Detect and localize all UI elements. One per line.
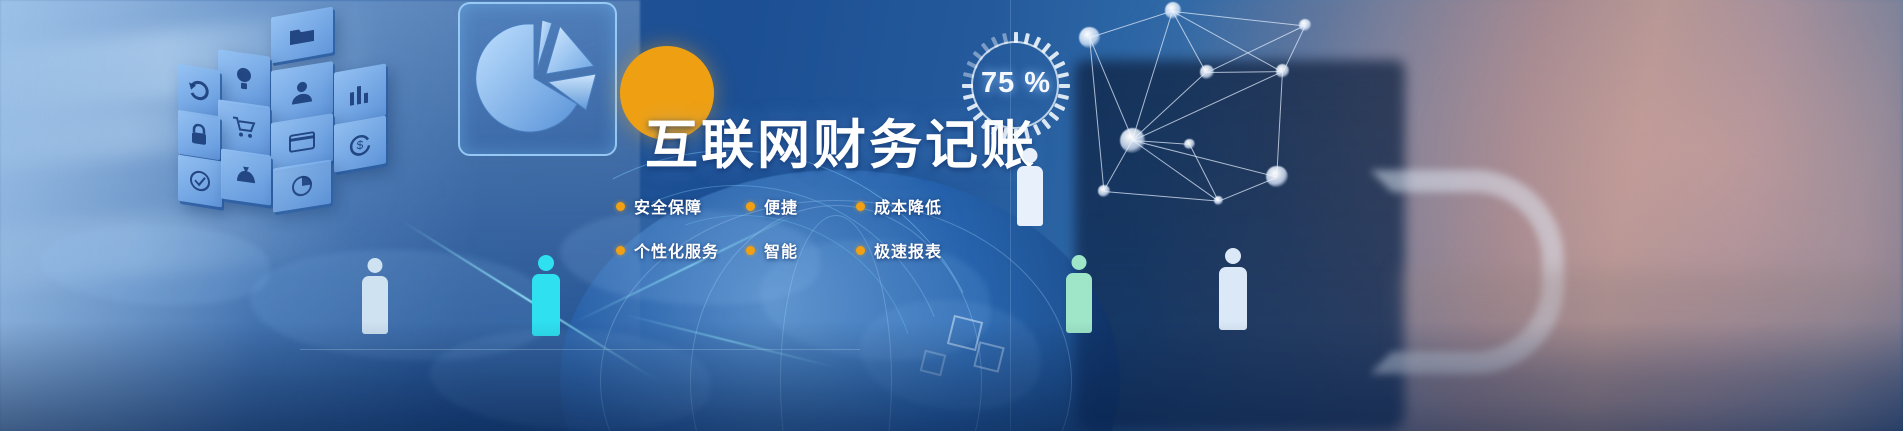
pie-chart bbox=[460, 4, 611, 150]
gauge-tick bbox=[1014, 32, 1018, 43]
network-node bbox=[1276, 64, 1289, 77]
network-node bbox=[1184, 139, 1195, 150]
network-edge bbox=[1207, 25, 1305, 73]
feature-item: 便捷 bbox=[746, 194, 856, 218]
credit-card-icon bbox=[289, 131, 315, 153]
dollar-refresh-icon: $ bbox=[348, 130, 372, 158]
clock-icon bbox=[189, 168, 211, 193]
bullet-dot-icon bbox=[856, 202, 865, 211]
bullet-dot-icon bbox=[616, 202, 625, 211]
network-node bbox=[1079, 27, 1100, 48]
feature-item: 极速报表 bbox=[856, 238, 942, 262]
network-edge bbox=[1089, 37, 1133, 140]
feature-item: 成本降低 bbox=[856, 194, 942, 218]
pie-slice-icon bbox=[291, 173, 313, 198]
feature-item: 智能 bbox=[746, 238, 856, 262]
feature-label: 成本降低 bbox=[874, 194, 942, 218]
feature-item: 个性化服务 bbox=[616, 238, 746, 262]
network-edge bbox=[1132, 140, 1218, 201]
icon-cube-dollar-refresh: $ bbox=[334, 115, 386, 172]
icon-cube-money-bag bbox=[221, 148, 271, 205]
user-icon bbox=[290, 78, 314, 106]
network-edge bbox=[1189, 144, 1219, 201]
network-node bbox=[1165, 2, 1181, 18]
icon-cube-pie-slice bbox=[273, 159, 331, 212]
network-node bbox=[1098, 185, 1110, 197]
gauge-tick bbox=[962, 84, 973, 88]
feature-item: 安全保障 bbox=[616, 194, 746, 218]
feature-label: 个性化服务 bbox=[634, 238, 719, 262]
network-edge bbox=[1090, 11, 1174, 39]
network-node bbox=[1214, 196, 1223, 205]
network-node bbox=[1299, 19, 1311, 31]
person-silhouette bbox=[1013, 148, 1047, 228]
feature-label: 安全保障 bbox=[634, 194, 702, 218]
folder-icon bbox=[289, 23, 315, 48]
money-bag-icon bbox=[235, 163, 257, 190]
network-node bbox=[1266, 166, 1287, 187]
network-edge bbox=[1276, 71, 1283, 177]
network-edge bbox=[1207, 71, 1283, 73]
recycle-icon bbox=[188, 77, 210, 102]
feature-row: 个性化服务 智能 极速报表 bbox=[616, 228, 986, 272]
bullet-dot-icon bbox=[616, 246, 625, 255]
lightbulb-icon bbox=[234, 65, 254, 94]
icon-cube-shopping-cart bbox=[218, 99, 270, 156]
bullet-dot-icon bbox=[746, 202, 755, 211]
network-edge bbox=[1089, 37, 1104, 191]
person-silhouette bbox=[1215, 248, 1251, 332]
feature-label: 智能 bbox=[764, 238, 798, 262]
bottom-vignette bbox=[0, 321, 1903, 431]
feature-label: 便捷 bbox=[764, 194, 798, 218]
bar-chart-icon bbox=[348, 81, 372, 107]
network-graph bbox=[1060, 0, 1580, 210]
network-edge bbox=[1133, 71, 1283, 141]
icon-cube-lock bbox=[178, 110, 220, 161]
feature-list: 安全保障 便捷 成本降低 个性化服务 智能 极速报表 bbox=[616, 184, 986, 272]
feature-row: 安全保障 便捷 成本降低 bbox=[616, 184, 986, 228]
marketing-banner: $ bbox=[0, 0, 1903, 431]
svg-text:$: $ bbox=[357, 137, 364, 152]
lock-icon bbox=[189, 122, 209, 147]
icon-cube-clock bbox=[178, 155, 222, 208]
shopping-cart-icon bbox=[232, 115, 256, 140]
bullet-dot-icon bbox=[856, 246, 865, 255]
network-edge bbox=[1104, 191, 1218, 202]
icon-cube-bar-chart bbox=[334, 63, 386, 124]
network-node bbox=[1120, 128, 1145, 153]
network-node bbox=[1200, 65, 1213, 78]
icon-cube-recycle bbox=[178, 64, 220, 117]
feature-label: 极速报表 bbox=[874, 238, 942, 262]
bullet-dot-icon bbox=[746, 246, 755, 255]
network-edge bbox=[1133, 140, 1277, 177]
gauge-tick bbox=[1014, 129, 1018, 140]
pie-chart-panel bbox=[458, 2, 617, 156]
progress-gauge: 75 % bbox=[962, 32, 1070, 140]
